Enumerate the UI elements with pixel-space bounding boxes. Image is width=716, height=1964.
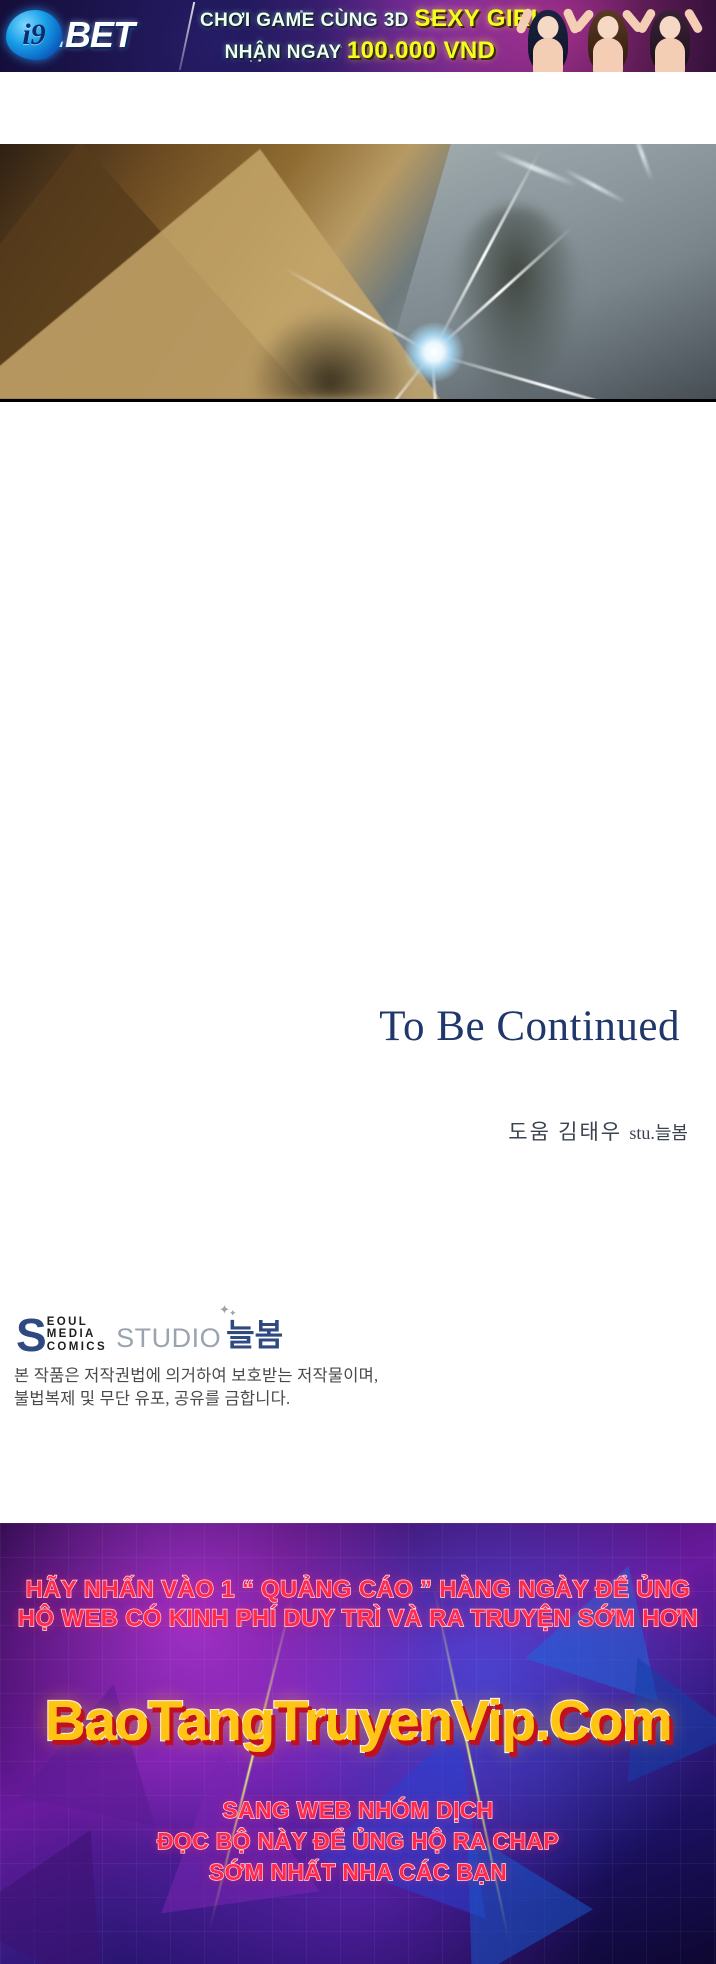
- publisher-logo: S EOUL MEDIA COMICS STUDIO ✦ ✦ 늘봄: [16, 1310, 436, 1356]
- copyright-notice: 본 작품은 저작권법에 의거하여 보호받는 저작물이며, 불법복제 및 무단 유…: [14, 1364, 534, 1410]
- to-be-continued-text: To Be Continued: [0, 1002, 680, 1051]
- sparkle-small-icon: ✦: [229, 1308, 237, 1319]
- publisher-word-comics: COMICS: [47, 1341, 107, 1354]
- studio-label: STUDIO: [116, 1323, 221, 1356]
- promo-top-line-2: HỘ WEB CÓ KINH PHÍ DUY TRÌ VÀ RA TRUYỆN …: [0, 1604, 716, 1633]
- promo-top-line-1: HÃY NHẤN VÀO 1 “ QUẢNG CÁO ” HÀNG NGÀY Đ…: [0, 1575, 716, 1604]
- ad-copy: CHƠI GAME CÙNG 3D SEXY GIRL NHẬN NGAY 10…: [200, 4, 520, 68]
- ad-line2-yellow: 100.000 VND: [347, 37, 496, 64]
- bet-wordmark: .BET: [56, 14, 134, 56]
- ad-line1-white: CHƠI GAME CÙNG 3D: [200, 10, 409, 31]
- credits-studio: stu.늘봄: [629, 1123, 688, 1143]
- copyright-line-1: 본 작품은 저작권법에 의거하여 보호받는 저작물이며,: [14, 1364, 534, 1387]
- bottom-promo-banner[interactable]: HÃY NHẤN VÀO 1 “ QUẢNG CÁO ” HÀNG NGÀY Đ…: [0, 1523, 716, 1964]
- seoul-media-wordmark: EOUL MEDIA COMICS: [47, 1316, 107, 1357]
- ad-characters-image: [516, 0, 716, 72]
- credits-line: 도움 김태우 stu.늘봄: [0, 1116, 688, 1146]
- promo-bottom-line-3: SỚM NHẤT NHA CÁC BẠN: [0, 1857, 716, 1888]
- ad-line2-white: NHẬN NGAY: [225, 42, 342, 63]
- i9bet-logo[interactable]: i9 .BET: [6, 6, 186, 64]
- promo-bottom-message: SANG WEB NHÓM DỊCH ĐỌC BỘ NÀY ĐỂ ỦNG HỘ …: [0, 1795, 716, 1888]
- comic-panel: [0, 144, 716, 402]
- copyright-line-2: 불법복제 및 무단 유포, 공유를 금합니다.: [14, 1387, 534, 1410]
- promo-top-message: HÃY NHẤN VÀO 1 “ QUẢNG CÁO ” HÀNG NGÀY Đ…: [0, 1575, 716, 1633]
- promo-bottom-line-2: ĐỌC BỘ NÀY ĐỂ ỦNG HỘ RA CHAP: [0, 1826, 716, 1857]
- publisher-word-media: MEDIA: [47, 1328, 107, 1341]
- credits-help-label: 도움 김태우: [508, 1120, 629, 1144]
- page-body: To Be Continued 도움 김태우 stu.늘봄 S EOUL MED…: [0, 402, 716, 1892]
- promo-domain-link[interactable]: BaoTangTruyenVip.Com: [0, 1688, 716, 1754]
- i9-logo-text: i9: [6, 10, 62, 60]
- top-ad-banner[interactable]: i9 .BET CHƠI GAME CÙNG 3D SEXY GIRL NHẬN…: [0, 0, 716, 72]
- publisher-word-eoul: EOUL: [47, 1316, 107, 1329]
- promo-bottom-line-1: SANG WEB NHÓM DỊCH: [0, 1795, 716, 1826]
- i9-orb-icon: i9: [6, 10, 62, 60]
- seoul-media-s-icon: S: [16, 1314, 45, 1356]
